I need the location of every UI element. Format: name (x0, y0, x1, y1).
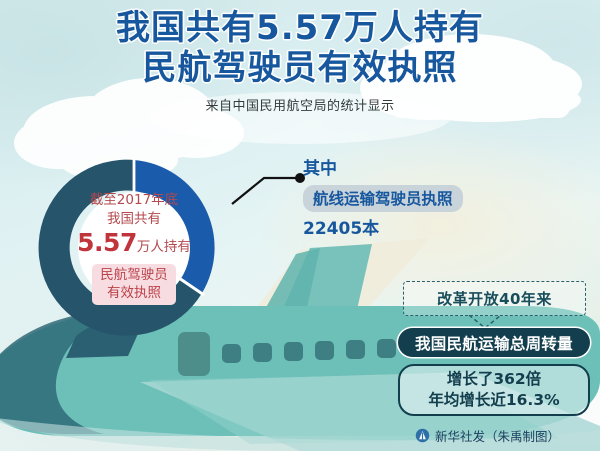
donut-center-highlight-line-1: 民航驾驶员 (100, 266, 168, 284)
donut-center-line-1: 截至2017年底 (90, 191, 178, 210)
callout-turnover-bubble-text: 改革开放40年来 (437, 288, 552, 309)
callout-turnover-stat-1: 增长了362倍 (447, 369, 541, 390)
donut-center-value: 5.57 (77, 228, 137, 257)
xinhua-logo-icon (415, 428, 430, 443)
title-block: 我国共有5.57万人持有 民航驾驶员有效执照 来自中国民用航空局的统计显示 (0, 8, 600, 114)
callout-license-heading: 其中 (303, 158, 543, 180)
infographic-canvas: 我国共有5.57万人持有 民航驾驶员有效执照 来自中国民用航空局的统计显示 截至… (0, 0, 600, 451)
callout-turnover-pill: 我国民航运输总周转量 (398, 328, 590, 357)
credit: 新华社发（朱禹制图） (415, 426, 560, 445)
callout-turnover-bubble: 改革开放40年来 (403, 281, 586, 316)
donut-center-line-2: 我国共有 (107, 210, 161, 229)
callout-turnover-stats: 增长了362倍 年均增长近16.3% (398, 364, 590, 416)
donut-center-label: 截至2017年底 我国共有 5.57万人持有 民航驾驶员 有效执照 (60, 174, 208, 322)
callout-license-label: 航线运输驾驶员执照 (313, 190, 453, 208)
title-line-2: 民航驾驶员有效执照 (0, 48, 600, 88)
donut-center-highlight-line-2: 有效执照 (100, 284, 168, 302)
callout-license: 其中 航线运输驾驶员执照 22405本 (303, 158, 543, 239)
donut-center-value-suffix: 万人持有 (137, 239, 191, 255)
donut-center-value-row: 5.57万人持有 (77, 230, 191, 260)
credit-text: 新华社发（朱禹制图） (435, 426, 560, 445)
title-line-1: 我国共有5.57万人持有 (0, 8, 600, 48)
subtitle: 来自中国民用航空局的统计显示 (0, 95, 600, 114)
callout-license-value: 22405本 (303, 219, 543, 239)
callout-license-label-pill: 航线运输驾驶员执照 (303, 185, 463, 212)
donut-chart: 截至2017年底 我国共有 5.57万人持有 民航驾驶员 有效执照 (34, 148, 234, 348)
callout-turnover-pill-text: 我国民航运输总周转量 (415, 332, 573, 354)
callout-turnover-bubble-tail (468, 315, 502, 329)
callout-turnover-stat-2: 年均增长近16.3% (428, 390, 559, 411)
donut-center-highlight: 民航驾驶员 有效执照 (92, 264, 176, 305)
